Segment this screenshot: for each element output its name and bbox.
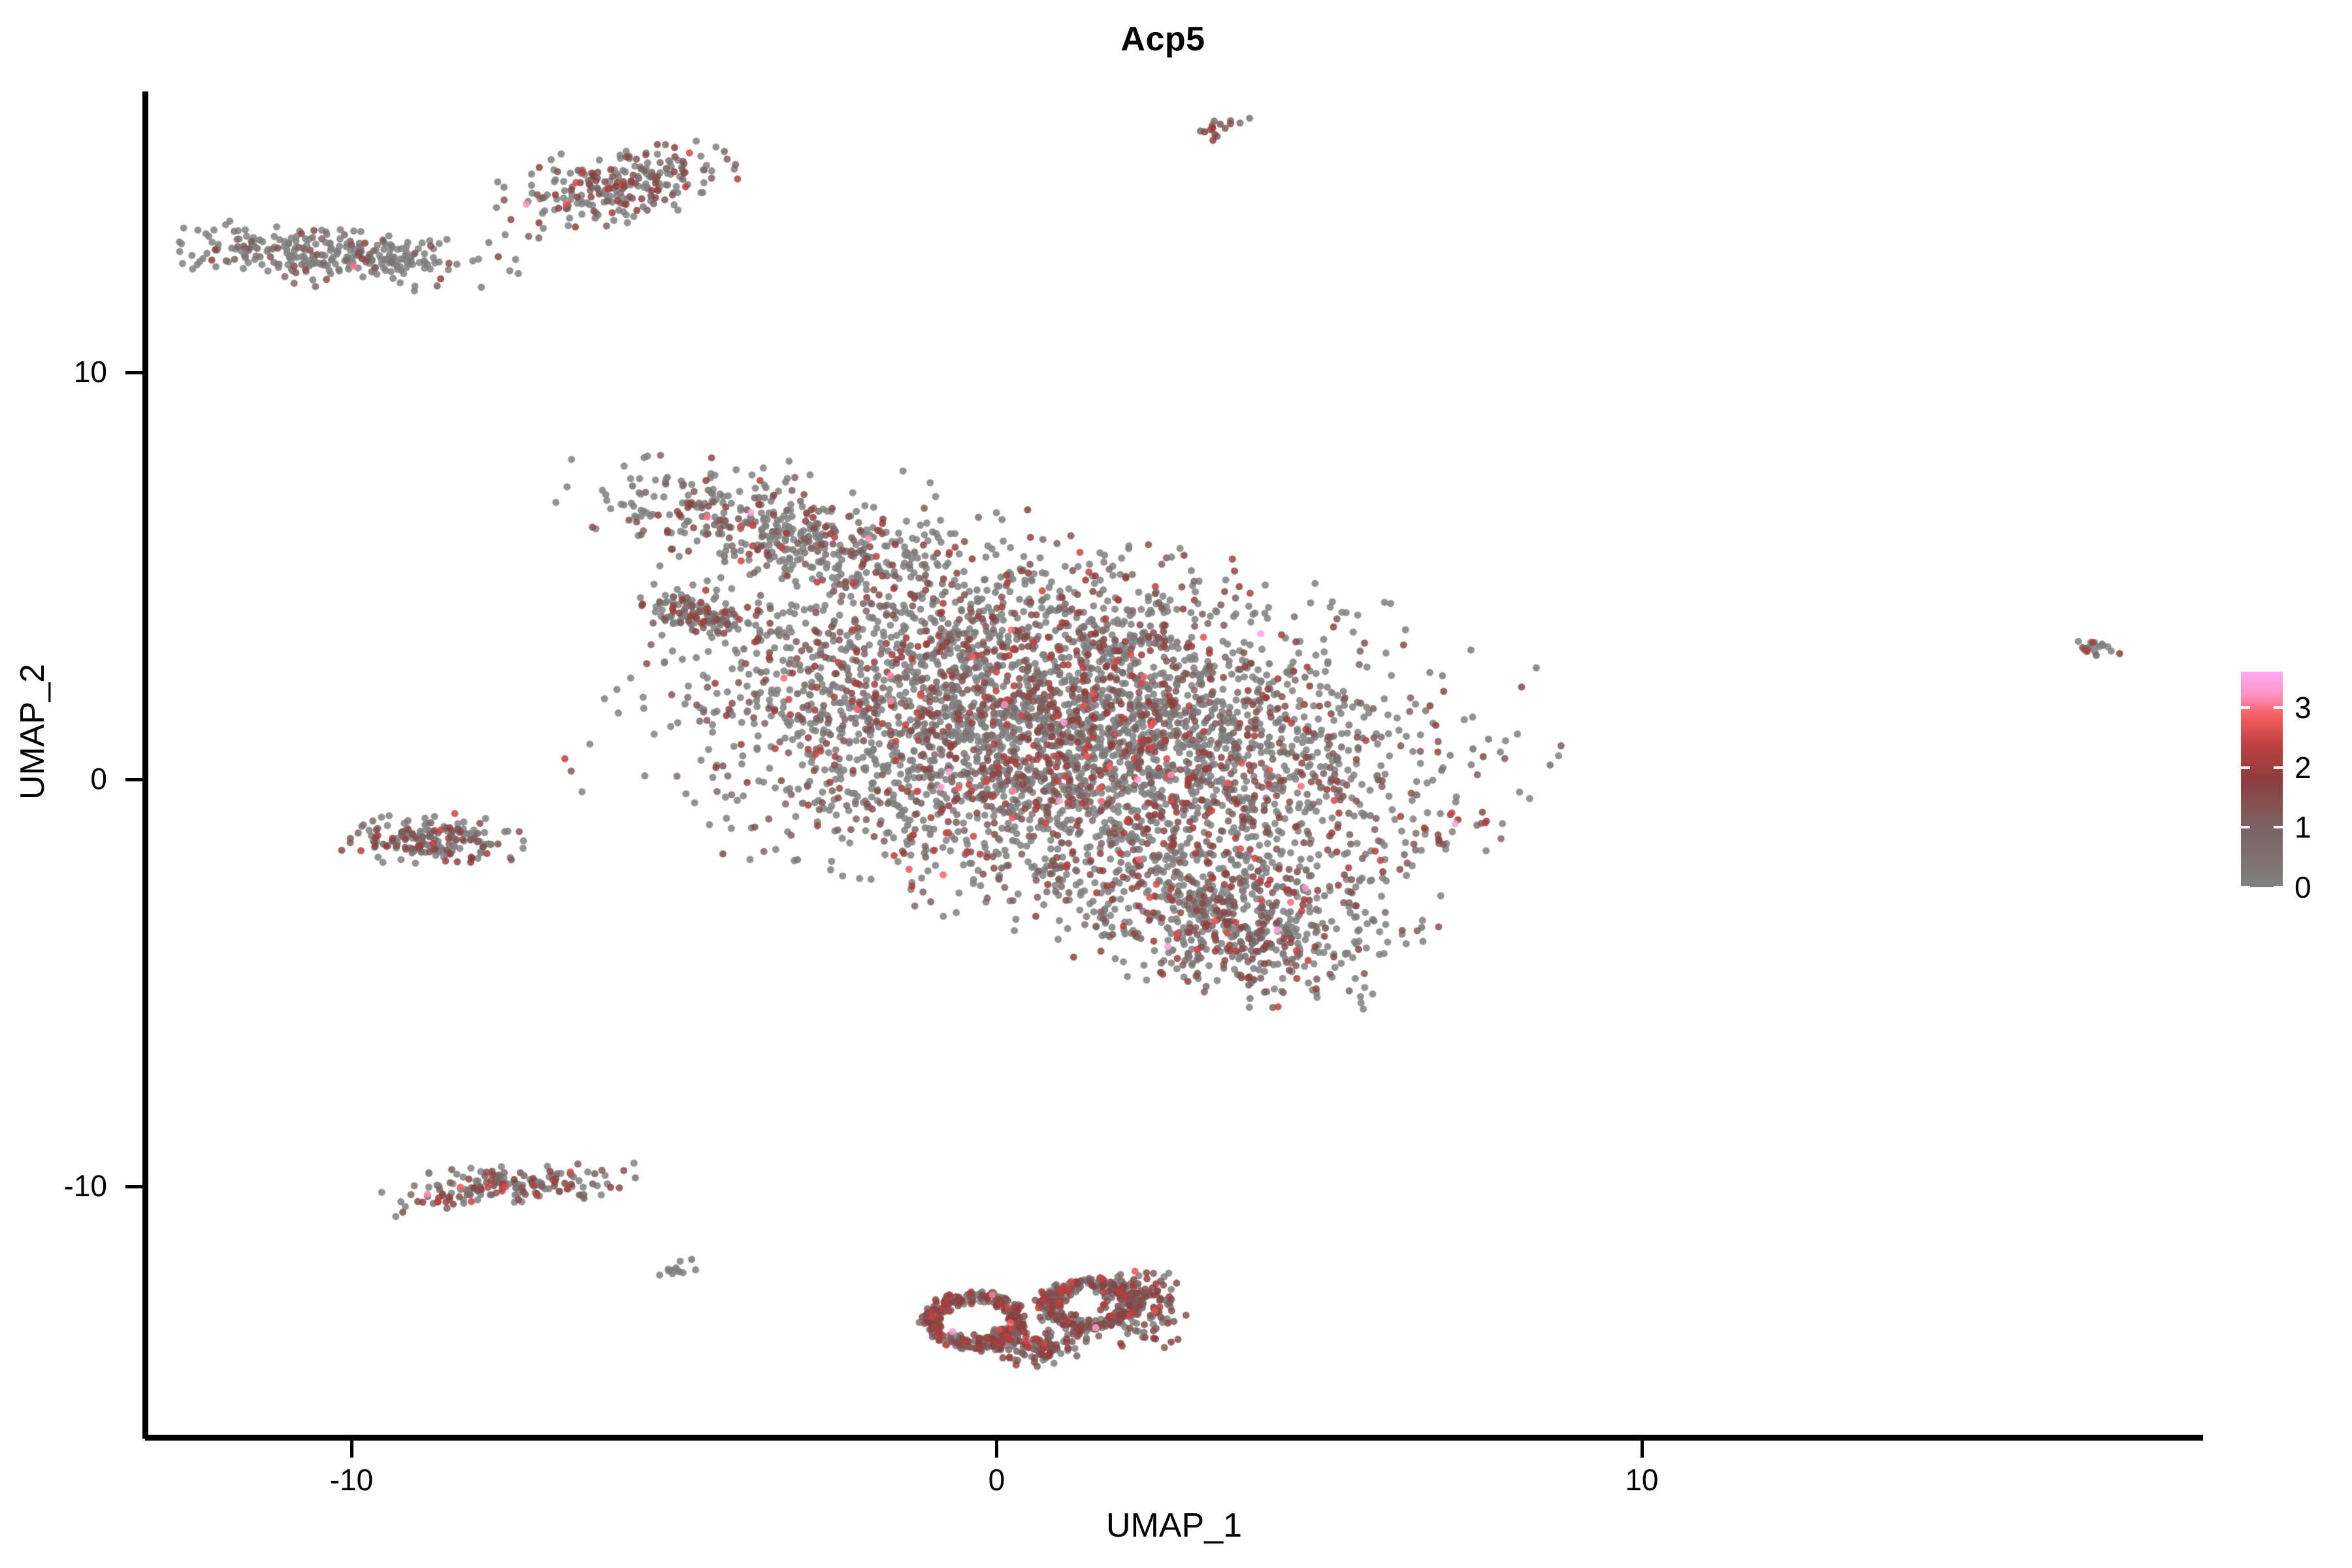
colorbar-tick-mark (2274, 826, 2283, 828)
y-tick-label: 10 (0, 354, 116, 389)
x-tick-label: -10 (286, 1462, 417, 1497)
colorbar-tick-mark (2241, 826, 2250, 828)
x-tick (1641, 1441, 1644, 1458)
x-tick (350, 1441, 353, 1458)
colorbar-tick-mark (2241, 886, 2250, 889)
x-axis-title: UMAP_1 (145, 1506, 2203, 1545)
plot-panel (145, 91, 2203, 1439)
y-tick (125, 778, 142, 781)
colorbar-tick-mark (2274, 886, 2283, 889)
colorbar-tick-mark (2274, 766, 2283, 769)
colorbar-tick-label: 3 (2295, 693, 2311, 723)
x-tick (995, 1441, 998, 1458)
x-tick-label: 0 (931, 1462, 1062, 1497)
colorbar-gradient (2241, 672, 2283, 887)
colorbar-tick-mark (2274, 706, 2283, 709)
x-axis-line (145, 1435, 2203, 1441)
colorbar-tick-label: 2 (2295, 753, 2311, 783)
y-axis-line (142, 91, 148, 1439)
colorbar-tick-mark (2241, 706, 2250, 709)
colorbar-tick-mark (2241, 766, 2250, 769)
scatter-plot-canvas (145, 91, 2203, 1439)
colorbar-tick-label: 0 (2295, 872, 2311, 902)
legend-colorbar: 3210 (2241, 672, 2339, 887)
colorbar-tick-label: 1 (2295, 812, 2311, 842)
umap-feature-plot-figure: Acp5 -10010 100-10 UMAP_1 UMAP_2 3210 (0, 0, 2352, 1568)
y-tick (125, 1185, 142, 1188)
y-tick-label: -10 (0, 1168, 116, 1203)
page-title: Acp5 (0, 20, 2339, 59)
y-tick (125, 371, 142, 374)
y-axis-title: UMAP_2 (13, 470, 52, 993)
x-tick-label: 10 (1576, 1462, 1707, 1497)
